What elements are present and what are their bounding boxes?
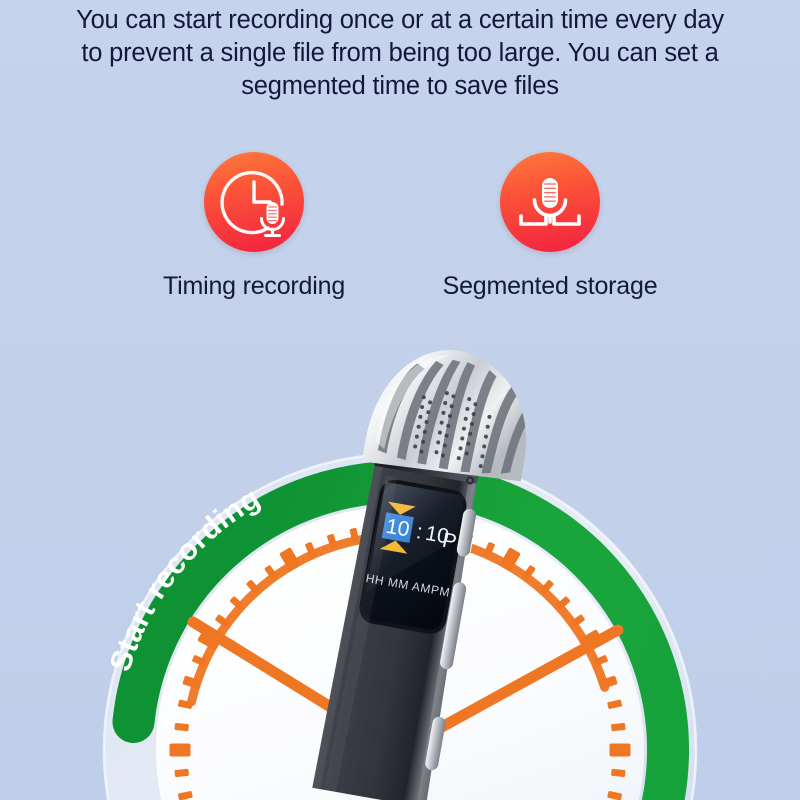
- headline: You can start recording once or at a cer…: [0, 4, 800, 103]
- device-body: 10 : 10 PM HH MM AMPM: [304, 337, 541, 800]
- feature-segmented-storage: Segmented storage: [400, 152, 700, 301]
- feature-label: Segmented storage: [400, 272, 700, 301]
- headline-line-2: to prevent a single file from being too …: [0, 37, 800, 70]
- feature-timing-recording: Timing recording: [104, 152, 404, 301]
- feature-label: Timing recording: [104, 272, 404, 301]
- headline-line-3: segmented time to save files: [0, 70, 800, 103]
- feature-row: Timing recording: [0, 152, 800, 312]
- product-feature-graphic: You can start recording once or at a cer…: [0, 0, 800, 800]
- microphone-segments-icon: [500, 152, 600, 252]
- headline-line-1: You can start recording once or at a cer…: [0, 4, 800, 37]
- clock-microphone-icon: [204, 152, 304, 252]
- clock-scene: 9 3 Start recording: [0, 330, 800, 800]
- voice-recorder-device: 10 : 10 PM HH MM AMPM: [250, 330, 550, 800]
